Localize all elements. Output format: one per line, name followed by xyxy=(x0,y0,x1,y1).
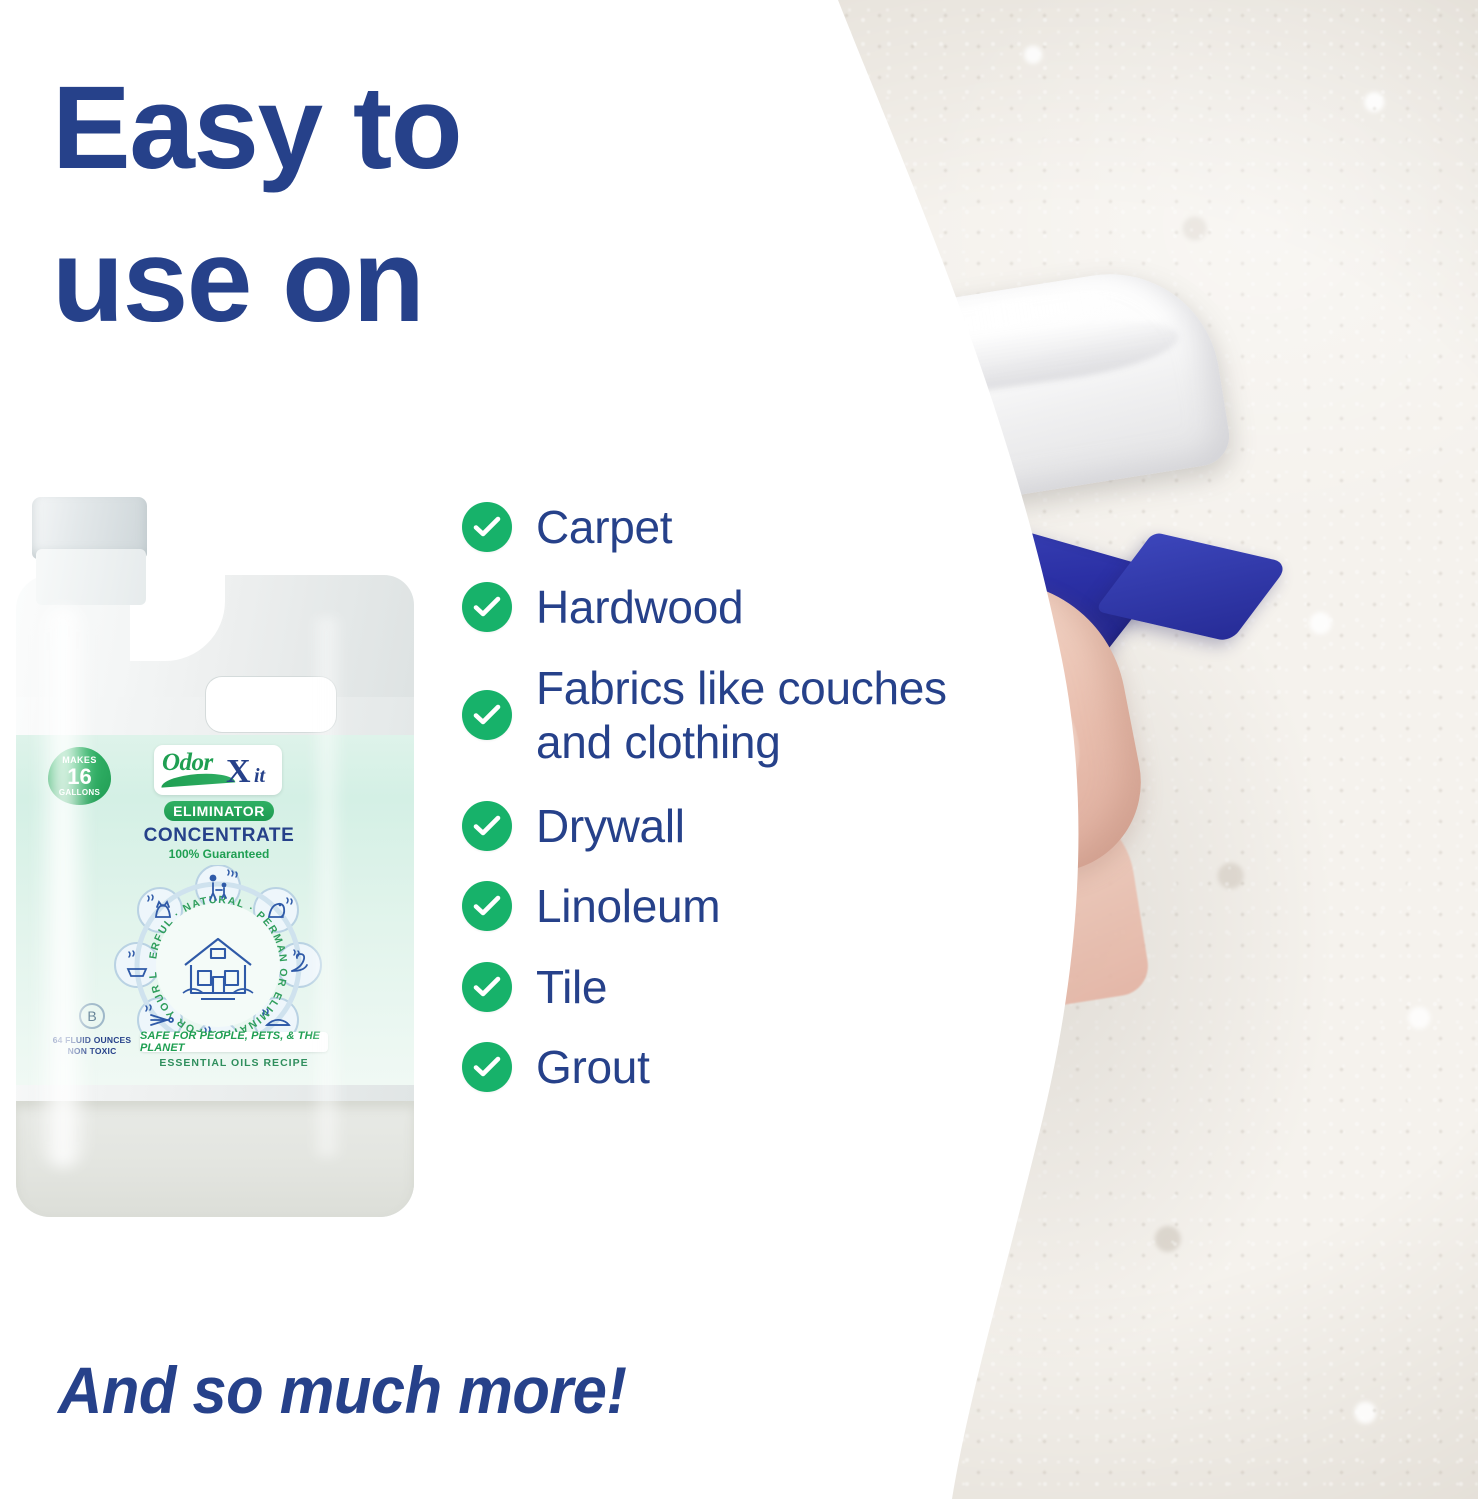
uses-list: Carpet Hardwood Fabrics like couches and… xyxy=(462,500,1082,1120)
check-circle-icon xyxy=(462,962,512,1012)
check-circle-icon xyxy=(462,502,512,552)
list-item-label: Drywall xyxy=(536,799,685,853)
list-item: Hardwood xyxy=(462,580,1082,634)
eliminator-pill: ELIMINATOR xyxy=(164,801,274,821)
tagline: And so much more! xyxy=(58,1352,626,1428)
product-jug: MAKES 16 GALLONS Odor X it ELIMINATOR CO… xyxy=(10,497,420,1219)
list-item-label: Tile xyxy=(536,960,607,1014)
list-item: Grout xyxy=(462,1040,1082,1094)
headline-line-1: Easy to xyxy=(52,62,461,194)
list-item-label: Fabrics like couches and clothing xyxy=(536,661,947,770)
jug-highlight-right xyxy=(310,617,344,1157)
brand-logo-it: it xyxy=(254,765,265,788)
guarantee-text: 100% Guaranteed xyxy=(136,847,302,861)
brand-logo: Odor X it xyxy=(154,745,282,795)
list-item-label: Hardwood xyxy=(536,580,743,634)
list-item: Linoleum xyxy=(462,879,1082,933)
list-item-label: Carpet xyxy=(536,500,672,554)
check-circle-icon xyxy=(462,801,512,851)
check-circle-icon xyxy=(462,881,512,931)
odor-elimination-emblem: POWERFUL · NATURAL · PERMANENT ODOR ELIM… xyxy=(113,865,323,1051)
page-title: Easy touse on xyxy=(52,52,772,359)
jug-neck xyxy=(36,549,146,605)
concentrate-text: CONCENTRATE xyxy=(136,825,302,847)
safe-claim-pill: SAFE FOR PEOPLE, PETS, & THE PLANET xyxy=(140,1032,328,1052)
headline-line-2: use on xyxy=(52,205,772,358)
list-item: Tile xyxy=(462,960,1082,1014)
check-circle-icon xyxy=(462,690,512,740)
jug-highlight-left xyxy=(36,607,90,1167)
recipe-text: ESSENTIAL OILS RECIPE xyxy=(140,1057,328,1069)
list-item-label: Grout xyxy=(536,1040,650,1094)
list-item: Fabrics like couches and clothing xyxy=(462,661,1082,770)
list-item: Carpet xyxy=(462,500,1082,554)
check-circle-icon xyxy=(462,1042,512,1092)
list-item: Drywall xyxy=(462,799,1082,853)
infographic-canvas: Easy touse on Carpet Hardwood xyxy=(0,0,1478,1499)
content-layer: Easy touse on Carpet Hardwood xyxy=(0,0,1478,1499)
check-circle-icon xyxy=(462,582,512,632)
brand-logo-x: X xyxy=(226,755,251,789)
list-item-label: Linoleum xyxy=(536,879,720,933)
